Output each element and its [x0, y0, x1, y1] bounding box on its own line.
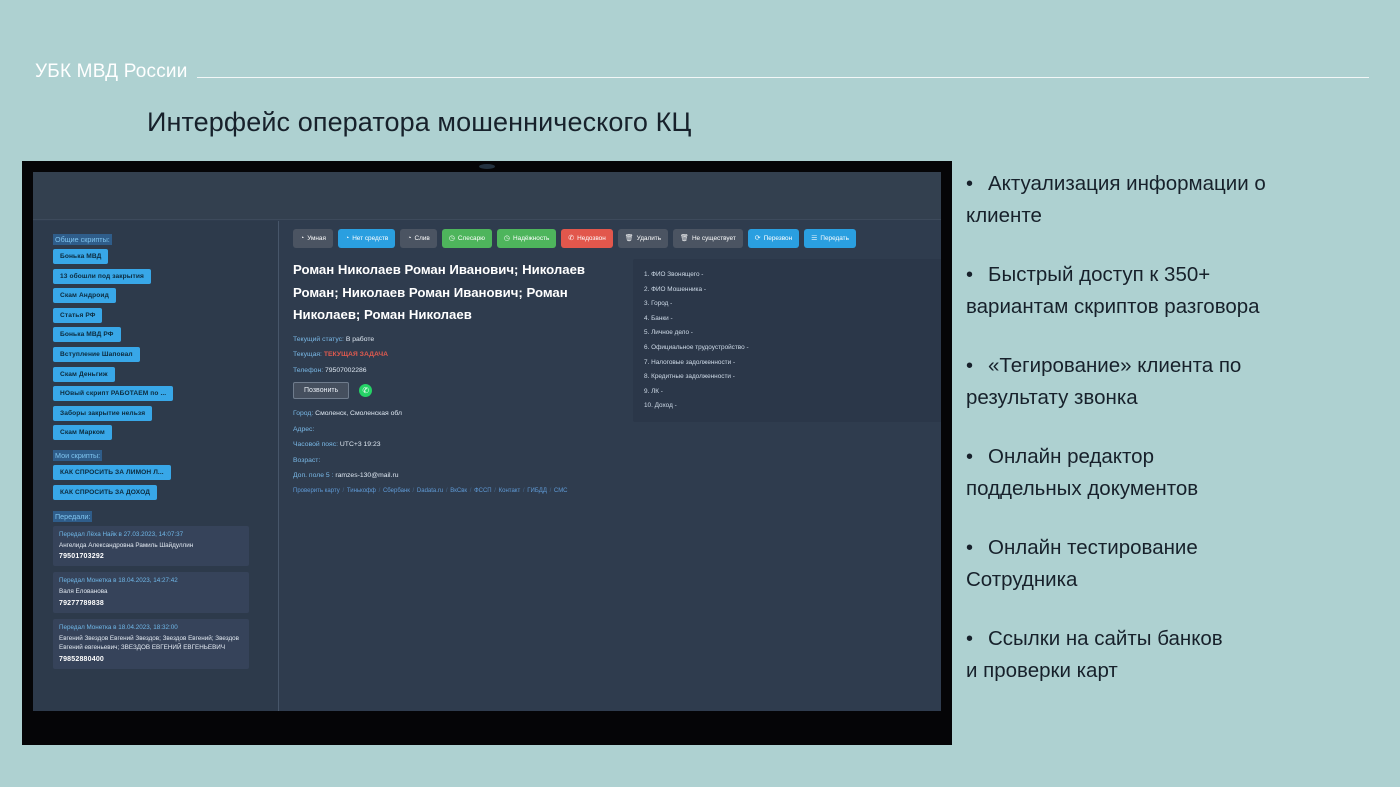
field-label: Возраст:: [293, 457, 320, 464]
field-label: Текущий статус:: [293, 336, 344, 343]
transfer-names: Ангелида Александровна Рамиль Шайдуллин: [59, 541, 243, 551]
tag-toolbar: ◔ Умная ◔ Нет средств ◔ Слив ◷ Слесарю: [293, 229, 941, 248]
bullet-text-line2: вариантам скриптов разговора: [966, 295, 1260, 318]
field-city: Город: Смоленск, Смоленская обл: [293, 410, 623, 417]
bullet-icon: •: [966, 351, 988, 382]
call-checklist-panel: 1. ФИО Звонящего - 2. ФИО Мошенника - 3.…: [633, 259, 941, 422]
bullet-text-line2: и проверки карт: [966, 659, 1118, 682]
link-dadata[interactable]: Dadata.ru: [417, 488, 443, 494]
bullet-text-line1: Быстрый доступ к 350+: [988, 263, 1210, 286]
transfer-header: Передал Монетка в 18.04.2023, 18:32:00: [59, 624, 243, 631]
bullet-text-line1: Онлайн редактор: [988, 445, 1154, 468]
bullet-text-line1: «Тегирование» клиента по: [988, 354, 1241, 377]
client-name-line1: Роман Николаев Роман Иванович; Николаев: [293, 259, 623, 282]
tag-button-label: Удалить: [637, 235, 661, 242]
list-item: •Онлайн редактор поддельных документов: [966, 441, 1386, 504]
field-label: Доп. поле 5 :: [293, 472, 333, 479]
link-separator: /: [521, 488, 526, 494]
script-button[interactable]: КАК СПРОСИТЬ ЗА ДОХОД: [53, 485, 157, 500]
call-button[interactable]: Позвонить: [293, 382, 349, 399]
call-actions: Позвонить ✆: [293, 382, 623, 399]
field-label: Адрес:: [293, 426, 314, 433]
transfer-card[interactable]: Передал Лёха Найк в 27.03.2023, 14:07:37…: [53, 526, 249, 567]
field-label: Текущая:: [293, 351, 322, 358]
bullet-text-line2: поддельных документов: [966, 477, 1198, 500]
field-timezone: Часовой пояс: UTC+3 19:23: [293, 441, 623, 448]
list-item: •Ссылки на сайты банков и проверки карт: [966, 623, 1386, 686]
app-topbar: [33, 172, 941, 220]
tag-button-nadezhnost[interactable]: ◷ Надёжность: [497, 229, 556, 248]
checklist-item: 7. Налоговые задолженности -: [644, 356, 940, 371]
client-details: Роман Николаев Роман Иванович; Николаев …: [293, 259, 623, 494]
checklist-item: 10. Доход -: [644, 399, 940, 414]
script-button[interactable]: Скам Марком: [53, 425, 112, 440]
link-sberbank[interactable]: Сбербанк: [383, 488, 410, 494]
transfer-header: Передал Лёха Найк в 27.03.2023, 14:07:37: [59, 531, 243, 538]
list-item: •«Тегирование» клиента по результату зво…: [966, 350, 1386, 413]
link-separator: /: [444, 488, 449, 494]
bullet-text-line1: Ссылки на сайты банков: [988, 627, 1223, 650]
checklist-item: 6. Официальное трудоустройство -: [644, 341, 940, 356]
circle-icon: ◔: [407, 235, 411, 242]
tag-button-label: Не существует: [692, 235, 736, 242]
field-status: Текущий статус: В работе: [293, 336, 623, 343]
tag-button-label: Слесарю: [458, 235, 485, 242]
link-gibdd[interactable]: ГИБДД: [527, 488, 547, 494]
checklist-item: 1. ФИО Звонящего -: [644, 268, 940, 283]
field-label: Телефон:: [293, 367, 323, 374]
field-value: 79507002286: [325, 367, 367, 374]
bullet-text-line2: результату звонка: [966, 386, 1138, 409]
checklist-item: 3. Город -: [644, 297, 940, 312]
field-value: ramzes-130@mail.ru: [335, 472, 398, 479]
webcam-icon: [479, 164, 495, 169]
transfer-names: Евгений Звездов Евгений Звездов; Звездов…: [59, 634, 243, 653]
link-kontakt[interactable]: Контакт: [499, 488, 521, 494]
checklist-item: 9. ЛК -: [644, 385, 940, 400]
circle-icon: ◔: [300, 235, 304, 242]
bullet-icon: •: [966, 260, 988, 291]
tag-button-label: Недозвон: [577, 235, 606, 242]
script-button[interactable]: Вступление Шаповал: [53, 347, 140, 362]
trash-icon: 🗑: [625, 235, 634, 242]
field-value: Смоленск, Смоленская обл: [315, 410, 402, 417]
transfer-card[interactable]: Передал Монетка в 18.04.2023, 14:27:42 В…: [53, 572, 249, 613]
tag-button-label: Умная: [307, 235, 326, 242]
link-separator: /: [493, 488, 498, 494]
list-item: •Актуализация информации о клиенте: [966, 168, 1386, 231]
link-tinkoff[interactable]: Тинькофф: [347, 488, 376, 494]
common-scripts-list: Бонька МВД 13 обошли под закрытия Скам А…: [53, 249, 279, 440]
field-address: Адрес:: [293, 426, 623, 433]
script-button[interactable]: Скам Деньгиж: [53, 367, 115, 382]
checklist-item: 5. Личное дело -: [644, 326, 940, 341]
refresh-icon: ⟳: [755, 235, 761, 242]
sidebar: Общие скрипты: Бонька МВД 13 обошли под …: [33, 221, 279, 711]
tag-button-ne-sushchestvuet[interactable]: 🗑 Не существует: [673, 229, 743, 248]
link-separator: /: [377, 488, 382, 494]
bullet-icon: •: [966, 624, 988, 655]
link-separator: /: [411, 488, 416, 494]
trash-icon: 🗑: [680, 235, 689, 242]
bullet-icon: •: [966, 169, 988, 200]
client-name-line2: Роман; Николаев Роман Иванович; Роман: [293, 282, 623, 305]
bullet-text-line1: Актуализация информации о: [988, 172, 1266, 195]
feature-bullet-list: •Актуализация информации о клиенте •Быст…: [966, 168, 1386, 714]
transfer-phone: 79501703292: [59, 553, 243, 560]
bullet-icon: •: [966, 533, 988, 564]
whatsapp-icon[interactable]: ✆: [359, 384, 372, 397]
tag-button-umnaya[interactable]: ◔ Умная: [293, 229, 333, 248]
link-separator: /: [468, 488, 473, 494]
checklist-item: 4. Банки -: [644, 312, 940, 327]
clock-icon: ◷: [449, 235, 455, 242]
link-proverit-kartu[interactable]: Проверить карту: [293, 488, 340, 494]
transfer-phone: 79277789838: [59, 600, 243, 607]
field-value: ТЕКУЩАЯ ЗАДАЧА: [324, 351, 388, 358]
bullet-text-line2: Сотрудника: [966, 568, 1077, 591]
field-extra-5: Доп. поле 5 : ramzes-130@mail.ru: [293, 472, 623, 479]
field-label: Часовой пояс:: [293, 441, 338, 448]
field-value: В работе: [346, 336, 374, 343]
header-rule: [197, 77, 1369, 78]
list-icon: ☰: [811, 235, 817, 242]
tag-button-label: Слив: [415, 235, 430, 242]
script-button[interactable]: Скам Андроид: [53, 288, 116, 303]
script-button[interactable]: 13 обошли под закрытия: [53, 269, 151, 284]
bullet-text-line2: клиенте: [966, 204, 1042, 227]
checklist-item: 2. ФИО Мошенника -: [644, 283, 940, 298]
script-button[interactable]: КАК СПРОСИТЬ ЗА ЛИМОН Л...: [53, 465, 171, 480]
tag-button-peredat[interactable]: ☰ Передать: [804, 229, 856, 248]
script-button[interactable]: Бонька МВД: [53, 249, 108, 264]
tag-button-slesaryu[interactable]: ◷ Слесарю: [442, 229, 492, 248]
link-fssp[interactable]: ФССП: [474, 488, 492, 494]
link-separator: /: [341, 488, 346, 494]
client-name-line3: Николаев; Роман Николаев: [293, 304, 623, 327]
link-vksvk[interactable]: ВкСвк: [450, 488, 467, 494]
tag-button-net-sredstv[interactable]: ◔ Нет средств: [338, 229, 395, 248]
clock-icon: ◷: [504, 235, 510, 242]
field-phone: Телефон: 79507002286: [293, 367, 623, 374]
tag-button-sliv[interactable]: ◔ Слив: [400, 229, 437, 248]
transfer-card[interactable]: Передал Монетка в 18.04.2023, 18:32:00 Е…: [53, 619, 249, 669]
transfer-names: Валя Елованова: [59, 587, 243, 597]
common-scripts-label: Общие скрипты:: [53, 234, 112, 245]
external-links-row: Проверить карту / Тинькофф / Сбербанк / …: [293, 488, 623, 494]
field-age: Возраст:: [293, 457, 623, 464]
app-screenshot: Общие скрипты: Бонька МВД 13 обошли под …: [33, 172, 941, 711]
transfer-header: Передал Монетка в 18.04.2023, 14:27:42: [59, 577, 243, 584]
tag-button-label: Перезвон: [764, 235, 792, 242]
script-button[interactable]: НОвый скрипт РАБОТАЕМ по ...: [53, 386, 173, 401]
slide-header: УБК МВД России: [0, 54, 1400, 90]
phone-icon: ✆: [568, 235, 574, 242]
field-current-task: Текущая: ТЕКУЩАЯ ЗАДАЧА: [293, 351, 623, 358]
main-panel: ◔ Умная ◔ Нет средств ◔ Слив ◷ Слесарю: [279, 221, 941, 711]
circle-icon: ◔: [345, 235, 349, 242]
org-title: УБК МВД России: [35, 61, 188, 83]
list-item: •Быстрый доступ к 350+ вариантам скрипто…: [966, 259, 1386, 322]
bullet-text-line1: Онлайн тестирование: [988, 536, 1198, 559]
tag-button-label: Нет средств: [352, 235, 388, 242]
monitor-frame: Общие скрипты: Бонька МВД 13 обошли под …: [22, 161, 952, 745]
field-value: UTC+3 19:23: [340, 441, 381, 448]
list-item: •Онлайн тестирование Сотрудника: [966, 532, 1386, 595]
tag-button-label: Надёжность: [513, 235, 549, 242]
transfer-phone: 79852880400: [59, 656, 243, 663]
tag-button-perezvon[interactable]: ⟳ Перезвон: [748, 229, 799, 248]
script-button[interactable]: Заборы закрытие нельзя: [53, 406, 152, 421]
bullet-icon: •: [966, 442, 988, 473]
field-label: Город:: [293, 410, 313, 417]
my-scripts-label: Мои скрипты:: [53, 450, 102, 461]
link-separator: /: [548, 488, 553, 494]
page-title: Интерфейс оператора мошеннического КЦ: [147, 107, 691, 138]
tag-button-udalit[interactable]: 🗑 Удалить: [618, 229, 668, 248]
checklist-item: 8. Кредитные задолженности -: [644, 370, 940, 385]
link-sms[interactable]: СМС: [554, 488, 568, 494]
tag-button-label: Передать: [820, 235, 849, 242]
script-button[interactable]: Статья РФ: [53, 308, 102, 323]
script-button[interactable]: Бонька МВД РФ: [53, 327, 121, 342]
client-name: Роман Николаев Роман Иванович; Николаев …: [293, 259, 623, 327]
transfers-label: Передали:: [53, 511, 92, 522]
my-scripts-list: КАК СПРОСИТЬ ЗА ЛИМОН Л... КАК СПРОСИТЬ …: [53, 465, 279, 500]
tag-button-nedozvon[interactable]: ✆ Недозвон: [561, 229, 612, 248]
transfers-section: Передали: Передал Лёха Найк в 27.03.2023…: [53, 506, 279, 669]
